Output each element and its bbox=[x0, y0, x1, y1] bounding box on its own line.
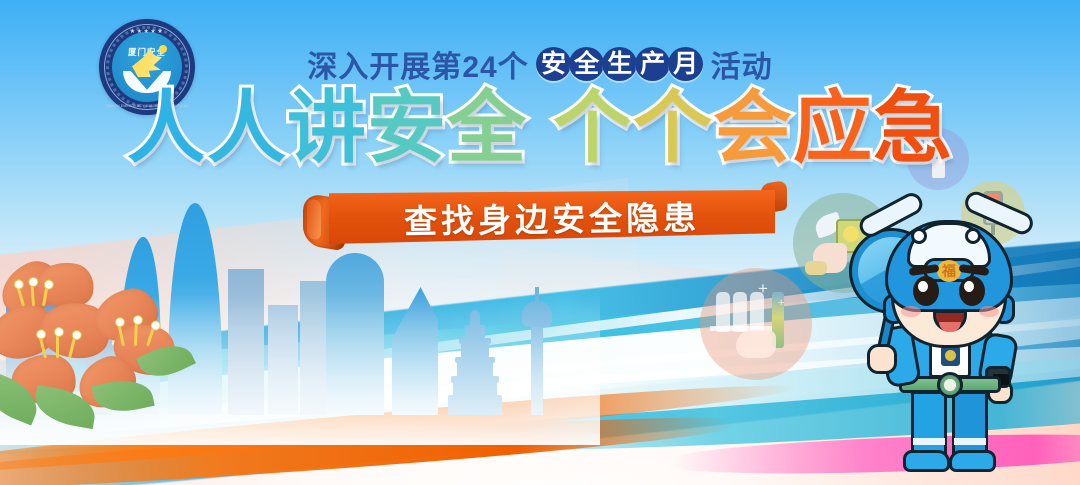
mascot-antenna-knob-left bbox=[911, 228, 927, 244]
title-char-9: 应 bbox=[793, 88, 873, 167]
badge-char-2: 全 bbox=[569, 47, 604, 81]
safety-mascot: 福 bbox=[845, 198, 1060, 485]
fu-character-icon: 福 bbox=[937, 260, 961, 282]
ribbon-banner: 查找身边安全隐患 bbox=[303, 188, 783, 250]
kicker-line: 深入开展第24个 安全生产月 活动 bbox=[0, 42, 1080, 86]
ribbon-label: 查找身边安全隐患 bbox=[329, 187, 776, 247]
safety-poster: ++ ★★★★★ 厦门安全 XIAMEN EMERGENCY MANAGEMEN… bbox=[0, 0, 1080, 485]
mascot-eye-right bbox=[959, 276, 985, 306]
mascot-blush-left bbox=[901, 306, 921, 317]
mascot-cuff-right bbox=[954, 438, 986, 445]
title-char-1: 人 bbox=[127, 88, 207, 167]
building-mid-3 bbox=[300, 281, 326, 415]
building-sail-tower bbox=[326, 253, 384, 415]
mascot-cuff-left bbox=[913, 438, 945, 445]
emblem-stars: ★★★★★ bbox=[99, 28, 195, 35]
title-char-6: 个 bbox=[553, 88, 633, 167]
mascot-badge bbox=[941, 346, 960, 366]
observation-tower bbox=[522, 289, 552, 415]
safety-month-badge: 安全生产月 bbox=[537, 47, 702, 81]
mascot-shoe-left bbox=[903, 450, 950, 472]
title-char-7: 个 bbox=[633, 88, 713, 167]
title-char-5: 全 bbox=[447, 88, 527, 167]
building-mid-1 bbox=[228, 269, 264, 415]
nanputuo-pagoda bbox=[448, 305, 502, 415]
badge-char-5: 月 bbox=[668, 47, 703, 81]
mascot-blush-right bbox=[979, 306, 999, 317]
title-char-4: 安 bbox=[367, 88, 447, 167]
mascot-eye-left bbox=[913, 276, 939, 306]
badge-char-1: 安 bbox=[536, 47, 571, 81]
bougainvillea-decoration bbox=[0, 262, 197, 452]
title-char-2: 人 bbox=[207, 88, 287, 167]
main-title: 人人讲安全个个会应急 bbox=[0, 88, 1080, 167]
gas-cylinder-icon: ++ bbox=[700, 268, 812, 380]
badge-char-3: 生 bbox=[602, 47, 637, 81]
mascot-hand-left bbox=[867, 344, 897, 374]
mascot-belt-buckle bbox=[937, 372, 963, 398]
kicker-suffix: 活动 bbox=[711, 51, 773, 84]
building-mid-2 bbox=[268, 305, 298, 415]
badge-char-4: 产 bbox=[635, 47, 670, 81]
title-char-8: 会 bbox=[713, 88, 793, 167]
title-char-3: 讲 bbox=[287, 88, 367, 167]
building-spire-tower bbox=[392, 287, 438, 415]
mascot-antenna-knob-right bbox=[965, 228, 981, 244]
mascot-shoe-right bbox=[949, 450, 996, 472]
kicker-prefix: 深入开展第24个 bbox=[307, 51, 528, 84]
title-char-10: 急 bbox=[873, 88, 953, 167]
